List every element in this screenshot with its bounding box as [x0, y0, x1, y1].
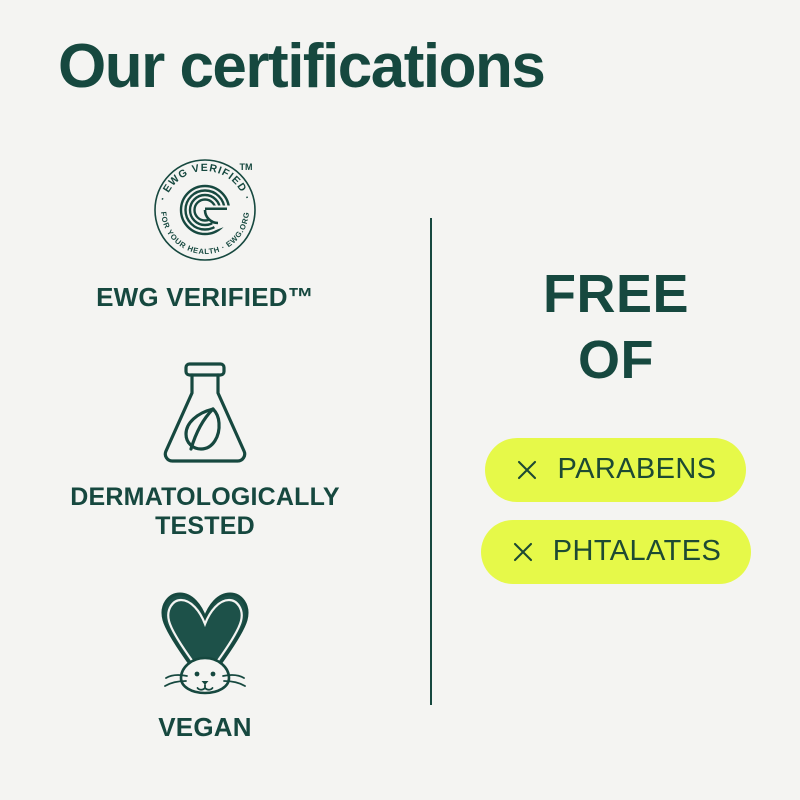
- free-of-heading: FREE OF: [543, 262, 689, 394]
- derm-line-1: DERMATOLOGICALLY: [70, 483, 339, 511]
- free-of-badge-label: PARABENS: [557, 453, 716, 486]
- free-of-badge-label: PHTALATES: [553, 535, 722, 568]
- x-mark-icon: [511, 540, 535, 564]
- bunny-heart-ears-icon: [147, 586, 263, 698]
- certification-dermatologically-tested: DERMATOLOGICALLY TESTED: [0, 357, 410, 542]
- free-of-line-1: FREE: [543, 264, 689, 324]
- svg-text:TM: TM: [240, 162, 253, 172]
- free-of-badge-parabens[interactable]: PARABENS: [485, 438, 746, 502]
- ewg-verified-seal-icon: · EWG VERIFIED · · FOR YOUR HEALTH · EWG…: [146, 150, 264, 268]
- free-of-list: PARABENS PHTALATES: [481, 438, 752, 584]
- certifications-column: · EWG VERIFIED · · FOR YOUR HEALTH · EWG…: [0, 150, 410, 742]
- flask-with-leaf-icon: [153, 357, 257, 469]
- certification-vegan: VEGAN: [0, 586, 410, 743]
- x-mark-icon: [515, 458, 539, 482]
- certification-label-dermatologically: DERMATOLOGICALLY TESTED: [70, 483, 339, 542]
- free-of-line-2: OF: [578, 330, 654, 390]
- certification-label-vegan: VEGAN: [158, 712, 251, 743]
- free-of-column: FREE OF PARABENS PHTALATES: [432, 262, 800, 584]
- certification-label-ewg: EWG VERIFIED™: [96, 282, 314, 313]
- free-of-badge-phtalates[interactable]: PHTALATES: [481, 520, 752, 584]
- certification-ewg-verified: · EWG VERIFIED · · FOR YOUR HEALTH · EWG…: [0, 150, 410, 313]
- page-title: Our certifications: [58, 36, 544, 98]
- derm-line-2: TESTED: [155, 512, 255, 540]
